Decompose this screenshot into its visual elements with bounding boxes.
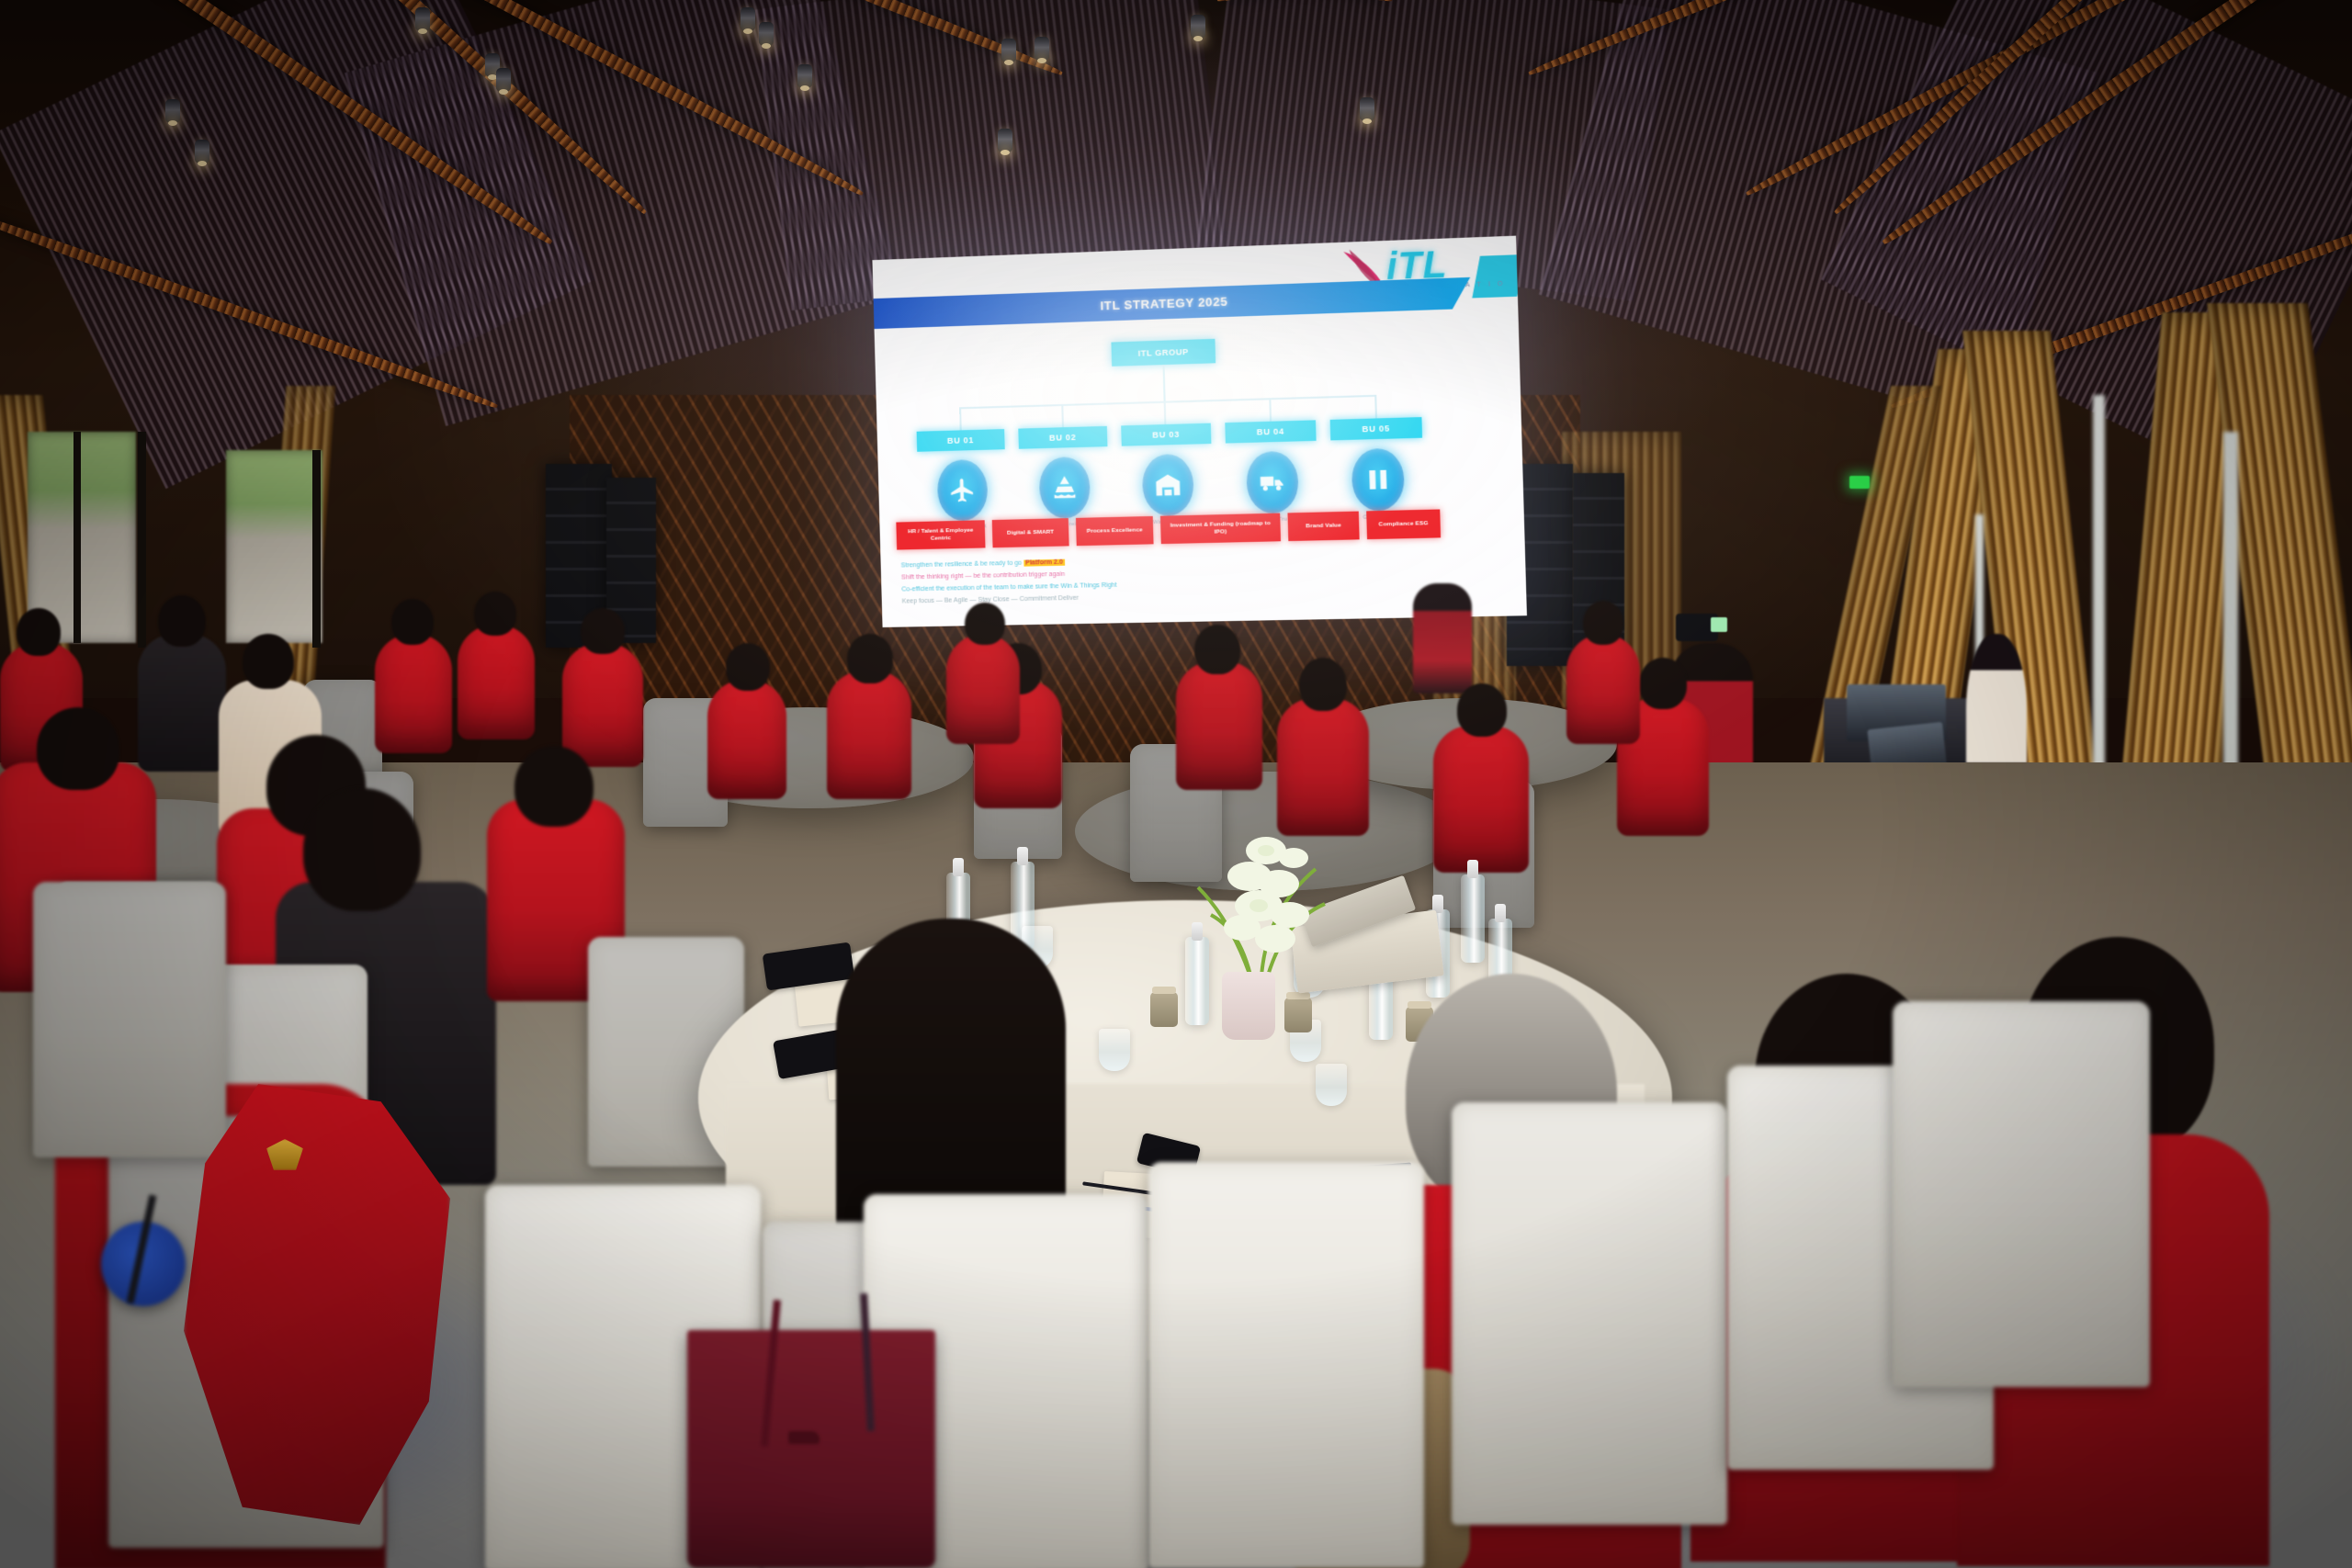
org-connector-drop <box>1374 395 1377 420</box>
cold-chain-icon <box>1351 448 1405 512</box>
enabler-box: Process Excellence <box>1076 516 1154 546</box>
slide-title-bar: ITL STRATEGY 2025 <box>872 277 1471 330</box>
group-box: ITL GROUP <box>1111 339 1216 367</box>
water-bottle <box>1461 874 1485 963</box>
presentation-slide: iTL C O R P O R A T I O N ITL STRATEGY 2… <box>872 236 1527 627</box>
ceiling-spotlight <box>496 68 511 92</box>
audience-member <box>946 634 1020 744</box>
banquet-chair <box>1893 1001 2150 1387</box>
bu-label-chip: BU 04 <box>1225 420 1316 443</box>
group-box-label: ITL GROUP <box>1138 347 1189 358</box>
warehouse-icon <box>1141 454 1193 516</box>
audience-member <box>138 634 226 772</box>
ceiling-spotlight <box>797 64 812 88</box>
business-unit-column: BU 03 Warehouse <box>1121 423 1214 526</box>
bu-label-chip: BU 05 <box>1330 417 1422 440</box>
ship-icon <box>1038 457 1091 519</box>
audience-head <box>965 603 1005 645</box>
audience-member <box>562 643 643 767</box>
enabler-box: Digital & SMART <box>992 518 1069 547</box>
audience-member <box>1566 634 1640 744</box>
banquet-chair <box>33 882 226 1157</box>
audience-head <box>474 592 516 636</box>
bu-label-chip: BU 03 <box>1121 423 1211 446</box>
conference-room-photo: iTL C O R P O R A T I O N ITL STRATEGY 2… <box>0 0 2352 1568</box>
org-connector-drop <box>1164 401 1167 425</box>
audience-member <box>827 671 911 799</box>
ceiling-spotlight <box>195 140 209 164</box>
presenter-silhouette <box>1413 583 1472 694</box>
bu-label-chip: BU 02 <box>1018 426 1107 449</box>
ceiling-spotlight <box>1035 37 1049 61</box>
ceiling-spotlight <box>741 7 755 31</box>
audience-head <box>303 788 421 911</box>
slide-title: ITL STRATEGY 2025 <box>1100 294 1227 312</box>
enabler-box: Investment & Funding (roadmap to IPO) <box>1160 513 1281 545</box>
window-mullion <box>138 432 146 648</box>
audience-head <box>37 707 119 790</box>
enabler-box: Brand Value <box>1287 512 1359 541</box>
ceiling-spotlight <box>415 7 430 31</box>
airplane-icon <box>936 459 988 522</box>
business-unit-column: BU 02 Ocean Freight <box>1018 426 1110 529</box>
audience-member <box>375 634 452 753</box>
org-connector-drop <box>1061 404 1064 428</box>
ceiling-spotlight <box>759 22 774 46</box>
audience-head <box>1194 625 1240 674</box>
slide-footer: Strengthen the resilience & be ready to … <box>901 548 1470 608</box>
projection-screen: iTL C O R P O R A T I O N ITL STRATEGY 2… <box>872 236 1527 627</box>
audience-head <box>1583 601 1623 645</box>
ceiling-spotlight <box>1001 39 1016 62</box>
org-connector-horizontal <box>959 395 1374 409</box>
truck-icon <box>1245 451 1298 514</box>
audience-head <box>17 608 61 656</box>
audience-head <box>1299 658 1347 711</box>
flower-vase <box>1222 972 1275 1040</box>
org-connector-drop <box>1269 398 1272 423</box>
water-glass <box>1316 1064 1347 1106</box>
ceiling-spotlight <box>1191 15 1205 39</box>
audience-head <box>1457 683 1507 737</box>
org-connector-drop <box>959 407 962 431</box>
business-unit-column: BU 04 Transport & Trucking <box>1225 420 1318 524</box>
water-glass <box>1099 1029 1130 1071</box>
camera-screen <box>1711 617 1727 632</box>
window-mullion <box>312 450 321 648</box>
window-left <box>226 450 322 643</box>
audience-member <box>458 625 535 739</box>
enabler-box: Compliance ESG <box>1366 509 1441 539</box>
audience-head <box>1639 658 1687 709</box>
audience-head <box>243 634 294 689</box>
lacoste-crocodile-icon <box>788 1431 820 1444</box>
exit-sign <box>1849 476 1870 489</box>
audience-head <box>726 643 770 691</box>
audience-head <box>581 608 625 654</box>
business-unit-column: BU 05 Cold Chain <box>1330 417 1425 521</box>
bu-label-chip: BU 01 <box>917 429 1005 452</box>
audience-member <box>1176 661 1262 790</box>
ceiling-spotlight <box>1360 97 1374 121</box>
audience-head <box>847 634 893 683</box>
audience-member <box>707 680 786 799</box>
audience-member <box>1433 726 1529 873</box>
enabler-box: HR / Talent & Employee Centric <box>896 520 985 549</box>
business-unit-column: BU 01 Air & Sea Freight <box>917 429 1008 531</box>
org-connector-vertical <box>1162 365 1165 402</box>
banquet-chair <box>1148 1162 1424 1568</box>
window-mullion <box>73 432 81 643</box>
audience-head <box>514 746 594 827</box>
ceiling-spotlight <box>165 99 180 123</box>
audience-head <box>391 599 434 645</box>
ceiling-spotlight <box>998 129 1012 152</box>
lacoste-tote-bag <box>687 1330 935 1568</box>
banquet-chair <box>1452 1102 1727 1525</box>
audience-head <box>158 595 206 647</box>
